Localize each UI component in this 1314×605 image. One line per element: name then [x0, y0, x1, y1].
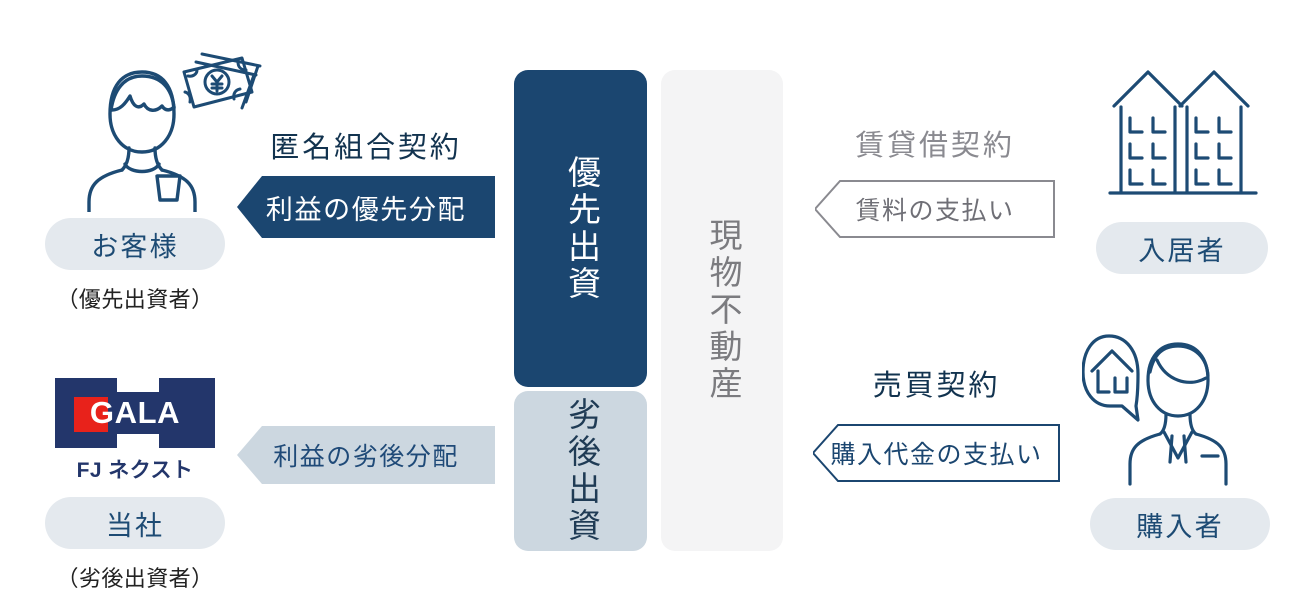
- arrow-rent-payment: 賃料の支払い: [815, 180, 1055, 238]
- center-block-real-estate-asset: 現物不動産: [661, 70, 783, 551]
- badge-company: 当社: [45, 497, 225, 549]
- arrow-purchase-payment-label: 購入代金の支払い: [830, 435, 1042, 471]
- contract-label-lease-agreement: 賃貸借契約: [815, 122, 1055, 164]
- two-houses-icon: [1108, 60, 1258, 210]
- contract-label-sales-agreement-text: 売買契約: [873, 370, 1001, 402]
- badge-tenant-label: 入居者: [1138, 229, 1225, 268]
- center-block-junior-investment: 劣後出資: [514, 391, 647, 551]
- contract-label-lease-agreement-text: 賃貸借契約: [855, 130, 1015, 162]
- person-with-house-speech-bubble-icon: [1082, 324, 1244, 486]
- sublabel-customer-text: （優先出資者）: [56, 287, 213, 312]
- badge-company-label: 当社: [106, 504, 164, 543]
- arrow-profit-senior-distribution: 利益の優先分配: [237, 176, 495, 238]
- contract-label-anonymous-partnership-text: 匿名組合契約: [270, 132, 461, 164]
- badge-customer: お客様: [45, 218, 225, 270]
- center-block-real-estate-asset-label: 現物不動産: [698, 218, 746, 403]
- badge-tenant: 入居者: [1096, 222, 1268, 274]
- arrow-purchase-payment: 購入代金の支払い: [813, 424, 1060, 482]
- badge-buyer-label: 購入者: [1136, 505, 1223, 544]
- gala-logo-subtitle: FJ ネクスト: [77, 454, 194, 484]
- arrow-profit-junior-distribution: 利益の劣後分配: [237, 426, 495, 484]
- banknotes-yen-icon: [172, 46, 268, 126]
- contract-label-sales-agreement: 売買契約: [813, 362, 1060, 404]
- arrow-profit-junior-distribution-label: 利益の劣後分配: [273, 437, 459, 473]
- center-block-senior-investment: 優先出資: [514, 70, 647, 387]
- sublabel-company-text: （劣後出資者）: [56, 566, 213, 591]
- gala-logo-mark: GALA: [55, 378, 215, 448]
- contract-label-anonymous-partnership: 匿名組合契約: [237, 124, 495, 166]
- arrow-profit-senior-distribution-label: 利益の優先分配: [266, 188, 466, 227]
- center-block-junior-investment-label: 劣後出資: [557, 397, 605, 545]
- center-block-senior-investment-label: 優先出資: [557, 155, 605, 303]
- gala-logo-text: GALA: [55, 378, 215, 448]
- sublabel-customer: （優先出資者）: [45, 282, 225, 314]
- arrow-rent-payment-label: 賃料の支払い: [855, 191, 1014, 227]
- badge-customer-label: お客様: [91, 225, 178, 264]
- badge-buyer: 購入者: [1090, 498, 1270, 550]
- scheme-diagram: お客様 （優先出資者） GALA FJ ネクスト 当社 （劣後出資者） 匿名組合…: [0, 0, 1314, 605]
- gala-fj-next-logo: GALA FJ ネクスト: [55, 378, 215, 484]
- sublabel-company: （劣後出資者）: [45, 561, 225, 593]
